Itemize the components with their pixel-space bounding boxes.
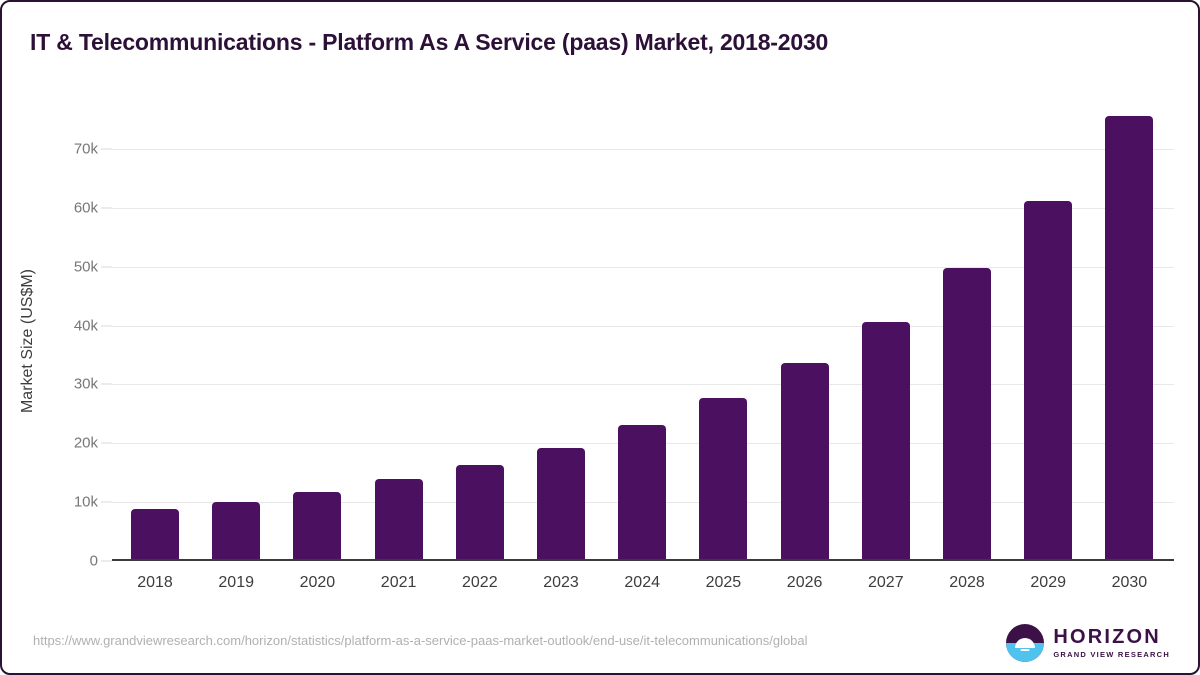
y-axis-tick-mark (101, 325, 112, 326)
bar[interactable] (781, 363, 829, 560)
x-axis-tick-label: 2025 (683, 574, 763, 592)
bar[interactable] (1024, 201, 1072, 560)
y-axis-tick-group: 010k20k30k40k50k60k70k (2, 102, 112, 561)
plot-area (112, 102, 1174, 561)
bar[interactable] (618, 425, 666, 560)
y-axis-tick-mark (101, 207, 112, 208)
x-axis-tick-label: 2018 (115, 574, 195, 592)
y-axis-tick-label: 10k (74, 494, 98, 511)
y-axis-tick-label: 20k (74, 435, 98, 452)
x-axis-tick-label: 2023 (521, 574, 601, 592)
logo-wordmark: HORIZON (1053, 627, 1170, 647)
x-axis-tick-label: 2024 (602, 574, 682, 592)
y-axis-tick-label: 70k (74, 141, 98, 158)
bar[interactable] (1105, 116, 1153, 560)
source-url[interactable]: https://www.grandviewresearch.com/horizo… (33, 632, 943, 649)
horizon-sun-icon (1006, 624, 1044, 662)
logo-text: HORIZON GRAND VIEW RESEARCH (1053, 627, 1170, 659)
y-axis-tick-mark (101, 561, 112, 562)
y-axis-tick-mark (101, 443, 112, 444)
horizon-logo[interactable]: HORIZON GRAND VIEW RESEARCH (1006, 624, 1170, 662)
x-axis-line (112, 559, 1174, 561)
x-axis-tick-group: 2018201920202021202220232024202520262027… (112, 574, 1174, 604)
x-axis-tick-label: 2029 (1008, 574, 1088, 592)
y-axis-tick-label: 30k (74, 376, 98, 393)
y-axis-tick-mark (101, 384, 112, 385)
bar[interactable] (293, 492, 341, 560)
y-axis-tick-label: 50k (74, 258, 98, 275)
chart-card: IT & Telecommunications - Platform As A … (0, 0, 1200, 675)
x-axis-tick-label: 2021 (359, 574, 439, 592)
y-axis-tick-mark (101, 149, 112, 150)
x-axis-tick-label: 2020 (277, 574, 357, 592)
bar[interactable] (212, 502, 260, 560)
y-axis-tick-label: 60k (74, 199, 98, 216)
page-title: IT & Telecommunications - Platform As A … (30, 29, 828, 56)
bar[interactable] (375, 479, 423, 560)
bar[interactable] (699, 398, 747, 560)
x-axis-tick-label: 2030 (1089, 574, 1169, 592)
logo-tagline: GRAND VIEW RESEARCH (1053, 651, 1170, 659)
bar[interactable] (456, 465, 504, 560)
x-axis-tick-label: 2028 (927, 574, 1007, 592)
x-axis-tick-label: 2022 (440, 574, 520, 592)
x-axis-tick-label: 2026 (765, 574, 845, 592)
bar[interactable] (131, 509, 179, 560)
y-axis-tick-label: 0 (90, 553, 98, 570)
y-axis-tick-mark (101, 266, 112, 267)
bar[interactable] (537, 448, 585, 560)
bar[interactable] (943, 268, 991, 560)
bar[interactable] (862, 322, 910, 560)
y-axis-tick-mark (101, 502, 112, 503)
bar-series (112, 102, 1174, 561)
x-axis-tick-label: 2019 (196, 574, 276, 592)
y-axis-tick-label: 40k (74, 317, 98, 334)
x-axis-tick-label: 2027 (846, 574, 926, 592)
